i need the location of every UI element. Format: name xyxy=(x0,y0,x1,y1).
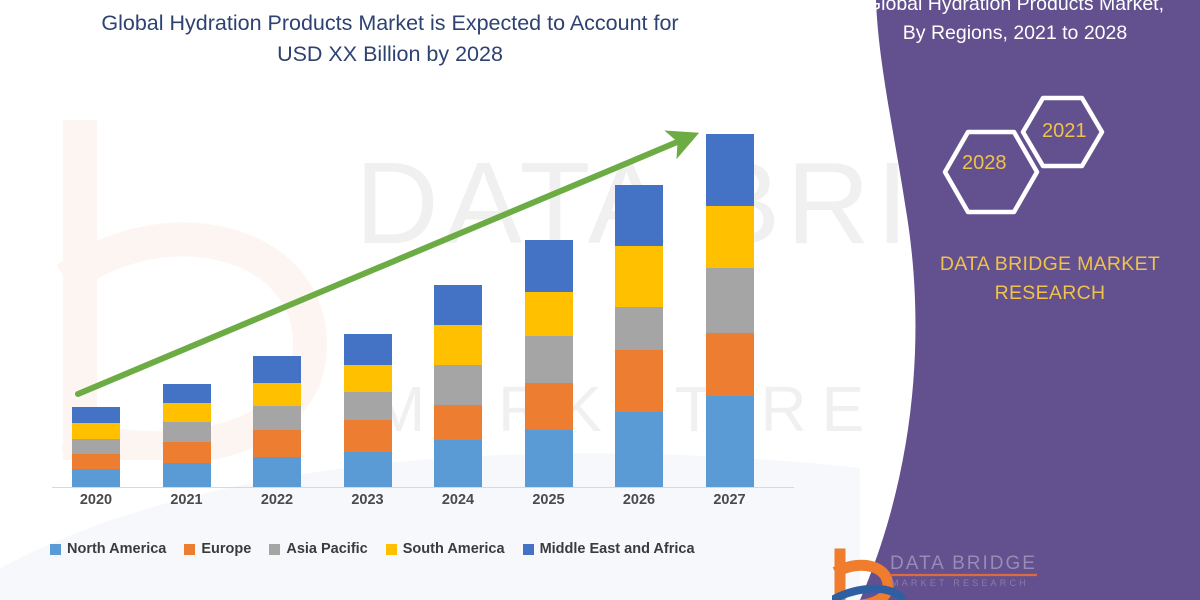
bar-segment xyxy=(434,325,482,365)
bar-segment xyxy=(525,292,573,336)
bar-segment xyxy=(615,246,663,307)
brand-heading-line-1: Global Hydration Products Market, xyxy=(866,0,1164,15)
legend-swatch-icon xyxy=(386,544,397,555)
bar-group-2025 xyxy=(525,240,573,487)
bar-segment xyxy=(163,422,211,442)
bar-segment xyxy=(253,383,301,406)
bar-group-2022 xyxy=(253,356,301,487)
bar-group-2027 xyxy=(706,134,754,487)
brand-name: DATA BRIDGE MARKET RESEARCH xyxy=(900,250,1200,308)
bar-segment xyxy=(253,457,301,487)
bar-segment xyxy=(163,442,211,463)
bar-segment xyxy=(434,365,482,405)
x-axis-label-2026: 2026 xyxy=(594,492,684,508)
bar-segment xyxy=(72,454,120,469)
x-axis-label-2025: 2025 xyxy=(504,492,594,508)
chart-panel: DATA BRI MARKET RE Global Hydration Prod… xyxy=(0,0,900,600)
infographic-root: DATA BRI MARKET RE Global Hydration Prod… xyxy=(0,0,1200,600)
brand-heading: Global Hydration Products Market, By Reg… xyxy=(830,0,1200,48)
x-axis-label-2020: 2020 xyxy=(51,492,141,508)
hexagon-badges: 2021 2028 xyxy=(930,92,1120,222)
brand-heading-line-2: By Regions, 2021 to 2028 xyxy=(903,22,1127,44)
logo-subtitle: MARKET RESEARCH xyxy=(891,578,1029,588)
legend-swatch-icon xyxy=(269,544,280,555)
hex-label-near: 2021 xyxy=(1042,120,1087,143)
bar-segment xyxy=(253,430,301,457)
bar-segment xyxy=(706,333,754,396)
bar-segment xyxy=(72,423,120,439)
bar-group-2021 xyxy=(163,384,211,487)
corner-logo: DATA BRIDGE MARKET RESEARCH xyxy=(832,548,1062,600)
legend-label: South America xyxy=(403,541,505,557)
hex-label-far: 2028 xyxy=(962,152,1007,175)
legend-label: North America xyxy=(67,541,166,557)
bar-group-2026 xyxy=(615,185,663,487)
logo-wordmark: DATA BRIDGE xyxy=(890,553,1037,575)
brand-name-line-1: DATA BRIDGE MARKET xyxy=(940,253,1160,275)
brand-name-line-2: RESEARCH xyxy=(995,282,1106,304)
bar-segment xyxy=(706,206,754,268)
legend-item[interactable]: Asia Pacific xyxy=(269,541,367,557)
legend-swatch-icon xyxy=(184,544,195,555)
legend-item[interactable]: North America xyxy=(50,541,166,557)
legend-swatch-icon xyxy=(523,544,534,555)
x-axis-label-2027: 2027 xyxy=(685,492,775,508)
growth-arrow-icon xyxy=(0,0,820,600)
bar-segment xyxy=(163,403,211,422)
bar-segment xyxy=(706,268,754,333)
bar-segment xyxy=(525,383,573,430)
bar-segment xyxy=(344,334,392,365)
legend-item[interactable]: Europe xyxy=(184,541,251,557)
bar-segment xyxy=(525,336,573,383)
legend-item[interactable]: South America xyxy=(386,541,505,557)
bar-segment xyxy=(72,469,120,487)
bar-segment xyxy=(706,134,754,206)
hexagon-outlines-icon xyxy=(930,92,1120,222)
bar-group-2020 xyxy=(72,407,120,487)
bar-group-2023 xyxy=(344,334,392,487)
bar-group-2024 xyxy=(434,285,482,487)
x-axis-label-2021: 2021 xyxy=(142,492,232,508)
legend-label: Europe xyxy=(201,541,251,557)
x-axis-label-2022: 2022 xyxy=(232,492,322,508)
bar-segment xyxy=(615,350,663,412)
bar-segment xyxy=(706,396,754,487)
bar-segment xyxy=(253,356,301,383)
legend-label: Middle East and Africa xyxy=(540,541,695,557)
legend-item[interactable]: Middle East and Africa xyxy=(523,541,695,557)
x-axis-label-2024: 2024 xyxy=(413,492,503,508)
bar-segment xyxy=(163,463,211,487)
bar-segment xyxy=(615,185,663,246)
bar-segment xyxy=(163,384,211,403)
bar-segment xyxy=(344,452,392,487)
bar-segment xyxy=(253,406,301,430)
bar-segment xyxy=(525,430,573,487)
chart-legend: North AmericaEuropeAsia PacificSouth Ame… xyxy=(50,541,695,557)
legend-label: Asia Pacific xyxy=(286,541,367,557)
bar-segment xyxy=(344,392,392,420)
bar-segment xyxy=(72,439,120,454)
bar-segment xyxy=(344,420,392,452)
bar-segment xyxy=(615,307,663,350)
bar-segment xyxy=(434,405,482,440)
bar-segment xyxy=(434,440,482,487)
bar-segment xyxy=(344,365,392,392)
bar-segment xyxy=(72,407,120,423)
bar-segment xyxy=(434,285,482,325)
bar-segment xyxy=(525,240,573,292)
legend-swatch-icon xyxy=(50,544,61,555)
bar-segment xyxy=(615,412,663,487)
stacked-bar-chart: 20202021202220232024202520262027 xyxy=(0,0,820,600)
x-axis-label-2023: 2023 xyxy=(323,492,413,508)
x-axis-line xyxy=(52,487,794,488)
